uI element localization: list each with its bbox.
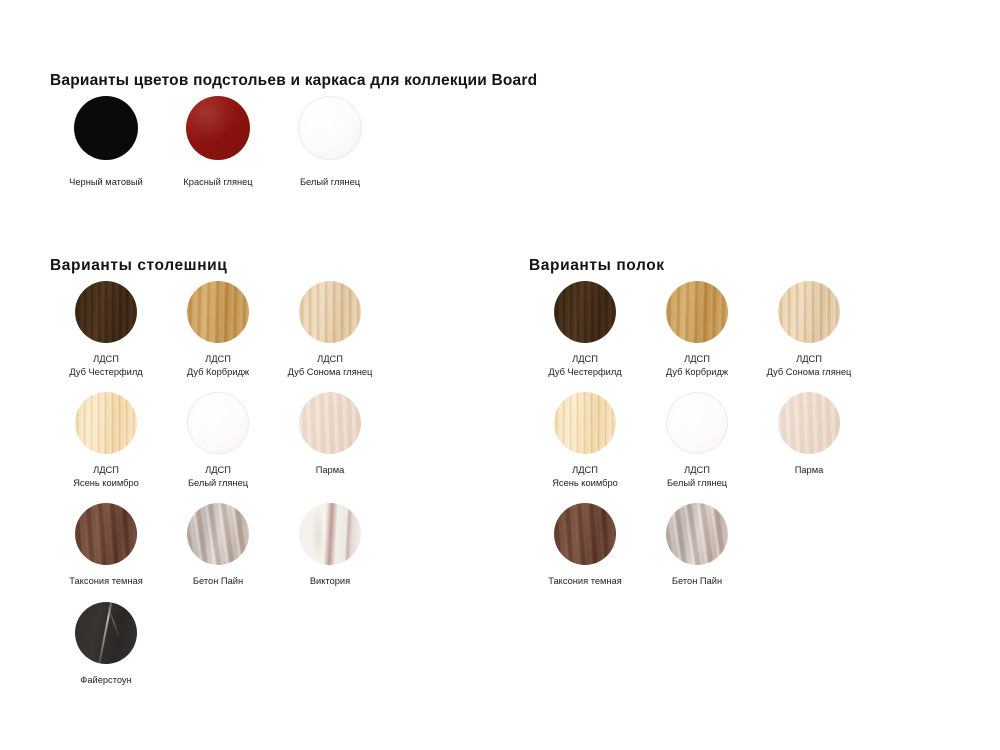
swatch-chip-ldsp-ash-coimbra[interactable] <box>554 392 616 454</box>
swatch-ldsp-oak-chesterfield[interactable]: ЛДСПДуб Честерфилд <box>50 281 162 378</box>
swatch-chip-parma[interactable] <box>299 392 361 454</box>
swatch-chip-taxonia-dark[interactable] <box>554 503 616 565</box>
swatch-label: Бетон Пайн <box>193 575 243 588</box>
swatch-label: ЛДСПДуб Честерфилд <box>548 353 621 378</box>
swatch-label-line2: Ясень коимбро <box>552 477 618 490</box>
swatch-label-line2: Белый глянец <box>667 477 727 490</box>
frames-section-title: Варианты цветов подстольев и каркаса для… <box>50 72 537 90</box>
swatch-label-line1: Файерстоун <box>80 675 131 685</box>
swatch-label: ЛДСПБелый глянец <box>188 464 248 489</box>
shelves-section-title: Варианты полок <box>529 257 665 275</box>
swatch-label: ЛДСПДуб Честерфилд <box>69 353 142 378</box>
swatch-label-line2: Белый глянец <box>188 477 248 490</box>
swatch-chip-ldsp-oak-chesterfield[interactable] <box>554 281 616 343</box>
swatch-label-line1: ЛДСП <box>684 354 710 364</box>
swatch-chip-firestone[interactable] <box>75 602 137 664</box>
swatch-row: Черный матовыйКрасный глянецБелый глянец <box>50 96 470 189</box>
swatch-chip-black-matte[interactable] <box>74 96 138 160</box>
swatch-label: Таксония темная <box>548 575 622 588</box>
swatch-label-line2: Ясень коимбро <box>73 477 139 490</box>
frames-swatch-grid: Черный матовыйКрасный глянецБелый глянец <box>50 96 470 189</box>
swatch-label: Парма <box>316 464 345 477</box>
marble-vein-icon <box>311 503 325 565</box>
marble-vein-icon <box>107 604 121 639</box>
swatch-label-line2: Дуб Сонома глянец <box>767 366 852 379</box>
swatch-label-line1: ЛДСП <box>93 465 119 475</box>
swatch-red-gloss[interactable]: Красный глянец <box>162 96 274 189</box>
swatch-chip-ldsp-oak-corbridge[interactable] <box>187 281 249 343</box>
swatch-ldsp-white-gloss[interactable]: ЛДСПБелый глянец <box>162 392 274 489</box>
swatch-label-line1: ЛДСП <box>93 354 119 364</box>
swatch-label-line1: ЛДСП <box>317 354 343 364</box>
swatch-chip-ldsp-white-gloss[interactable] <box>187 392 249 454</box>
tabletops-swatch-grid: ЛДСПДуб ЧестерфилдЛДСПДуб КорбриджЛДСПДу… <box>50 281 470 700</box>
swatch-parma[interactable]: Парма <box>753 392 865 477</box>
swatch-chip-parma[interactable] <box>778 392 840 454</box>
swatch-chip-white-gloss[interactable] <box>298 96 362 160</box>
catalog-page: Варианты цветов подстольев и каркаса для… <box>0 0 1000 750</box>
swatch-label: Белый глянец <box>300 176 360 189</box>
swatch-label-line1: ЛДСП <box>684 465 710 475</box>
swatch-chip-beton-pine[interactable] <box>666 503 728 565</box>
swatch-ldsp-ash-coimbra[interactable]: ЛДСПЯсень коимбро <box>529 392 641 489</box>
swatch-chip-beton-pine[interactable] <box>187 503 249 565</box>
swatch-label-line1: Таксония темная <box>548 576 622 586</box>
swatch-ldsp-oak-sonoma-gloss[interactable]: ЛДСПДуб Сонома глянец <box>753 281 865 378</box>
swatch-label: Черный матовый <box>69 176 143 189</box>
swatch-parma[interactable]: Парма <box>274 392 386 477</box>
swatch-label-line2: Дуб Сонома глянец <box>288 366 373 379</box>
swatch-chip-ldsp-oak-corbridge[interactable] <box>666 281 728 343</box>
swatch-chip-ldsp-oak-sonoma-gloss[interactable] <box>778 281 840 343</box>
swatch-label: ЛДСПЯсень коимбро <box>552 464 618 489</box>
swatch-chip-taxonia-dark[interactable] <box>75 503 137 565</box>
swatch-label-line1: Бетон Пайн <box>193 576 243 586</box>
swatch-label: Виктория <box>310 575 350 588</box>
swatch-label: ЛДСПДуб Корбридж <box>187 353 249 378</box>
swatch-row: ЛДСПДуб ЧестерфилдЛДСПДуб КорбриджЛДСПДу… <box>50 281 470 378</box>
swatch-label: ЛДСПДуб Сонома глянец <box>288 353 373 378</box>
swatch-label-line1: Виктория <box>310 576 350 586</box>
shelves-swatch-grid: ЛДСПДуб ЧестерфилдЛДСПДуб КорбриджЛДСПДу… <box>529 281 949 602</box>
swatch-white-gloss[interactable]: Белый глянец <box>274 96 386 189</box>
marble-vein-icon <box>96 602 113 664</box>
swatch-label: ЛДСПДуб Корбридж <box>666 353 728 378</box>
swatch-label: ЛДСПБелый глянец <box>667 464 727 489</box>
swatch-label-line2: Дуб Корбридж <box>666 366 728 379</box>
swatch-label-line1: ЛДСП <box>205 465 231 475</box>
swatch-label-line2: Дуб Корбридж <box>187 366 249 379</box>
swatch-ldsp-white-gloss[interactable]: ЛДСПБелый глянец <box>641 392 753 489</box>
swatch-label-line1: Таксония темная <box>69 576 143 586</box>
swatch-ldsp-oak-chesterfield[interactable]: ЛДСПДуб Честерфилд <box>529 281 641 378</box>
swatch-black-matte[interactable]: Черный матовый <box>50 96 162 189</box>
swatch-label-line1: Белый глянец <box>300 177 360 187</box>
swatch-row: ЛДСПЯсень коимброЛДСПБелый глянецПарма <box>529 392 949 489</box>
swatch-label-line1: ЛДСП <box>572 465 598 475</box>
swatch-label: Красный глянец <box>183 176 252 189</box>
swatch-chip-victoria[interactable] <box>299 503 361 565</box>
swatch-row: ЛДСПДуб ЧестерфилдЛДСПДуб КорбриджЛДСПДу… <box>529 281 949 378</box>
swatch-row: ЛДСПЯсень коимброЛДСПБелый глянецПарма <box>50 392 470 489</box>
swatch-victoria[interactable]: Виктория <box>274 503 386 588</box>
swatch-ldsp-oak-sonoma-gloss[interactable]: ЛДСПДуб Сонома глянец <box>274 281 386 378</box>
swatch-ldsp-ash-coimbra[interactable]: ЛДСПЯсень коимбро <box>50 392 162 489</box>
swatch-label-line1: Парма <box>316 465 345 475</box>
swatch-taxonia-dark[interactable]: Таксония темная <box>529 503 641 588</box>
tabletops-section-title: Варианты столешниц <box>50 257 227 275</box>
swatch-taxonia-dark[interactable]: Таксония темная <box>50 503 162 588</box>
swatch-label-line1: Бетон Пайн <box>672 576 722 586</box>
swatch-beton-pine[interactable]: Бетон Пайн <box>641 503 753 588</box>
swatch-chip-red-gloss[interactable] <box>186 96 250 160</box>
swatch-label-line1: ЛДСП <box>572 354 598 364</box>
swatch-label-line1: Красный глянец <box>183 177 252 187</box>
swatch-beton-pine[interactable]: Бетон Пайн <box>162 503 274 588</box>
swatch-label: Парма <box>795 464 824 477</box>
swatch-label-line2: Дуб Честерфилд <box>548 366 621 379</box>
swatch-ldsp-oak-corbridge[interactable]: ЛДСПДуб Корбридж <box>162 281 274 378</box>
swatch-label-line1: ЛДСП <box>796 354 822 364</box>
swatch-label: ЛДСПДуб Сонома глянец <box>767 353 852 378</box>
swatch-label: Бетон Пайн <box>672 575 722 588</box>
swatch-row: Таксония темнаяБетон ПайнВиктория <box>50 503 470 588</box>
swatch-chip-ldsp-ash-coimbra[interactable] <box>75 392 137 454</box>
swatch-firestone[interactable]: Файерстоун <box>50 602 162 687</box>
swatch-label-line2: Дуб Честерфилд <box>69 366 142 379</box>
swatch-row: Файерстоун <box>50 602 470 687</box>
swatch-label-line1: ЛДСП <box>205 354 231 364</box>
swatch-chip-ldsp-oak-sonoma-gloss[interactable] <box>299 281 361 343</box>
swatch-label: Файерстоун <box>80 674 131 687</box>
swatch-label: ЛДСПЯсень коимбро <box>73 464 139 489</box>
swatch-row: Таксония темнаяБетон Пайн <box>529 503 949 588</box>
swatch-chip-ldsp-white-gloss[interactable] <box>666 392 728 454</box>
swatch-label-line1: Черный матовый <box>69 177 143 187</box>
swatch-label-line1: Парма <box>795 465 824 475</box>
swatch-ldsp-oak-corbridge[interactable]: ЛДСПДуб Корбридж <box>641 281 753 378</box>
swatch-label: Таксония темная <box>69 575 143 588</box>
swatch-chip-ldsp-oak-chesterfield[interactable] <box>75 281 137 343</box>
